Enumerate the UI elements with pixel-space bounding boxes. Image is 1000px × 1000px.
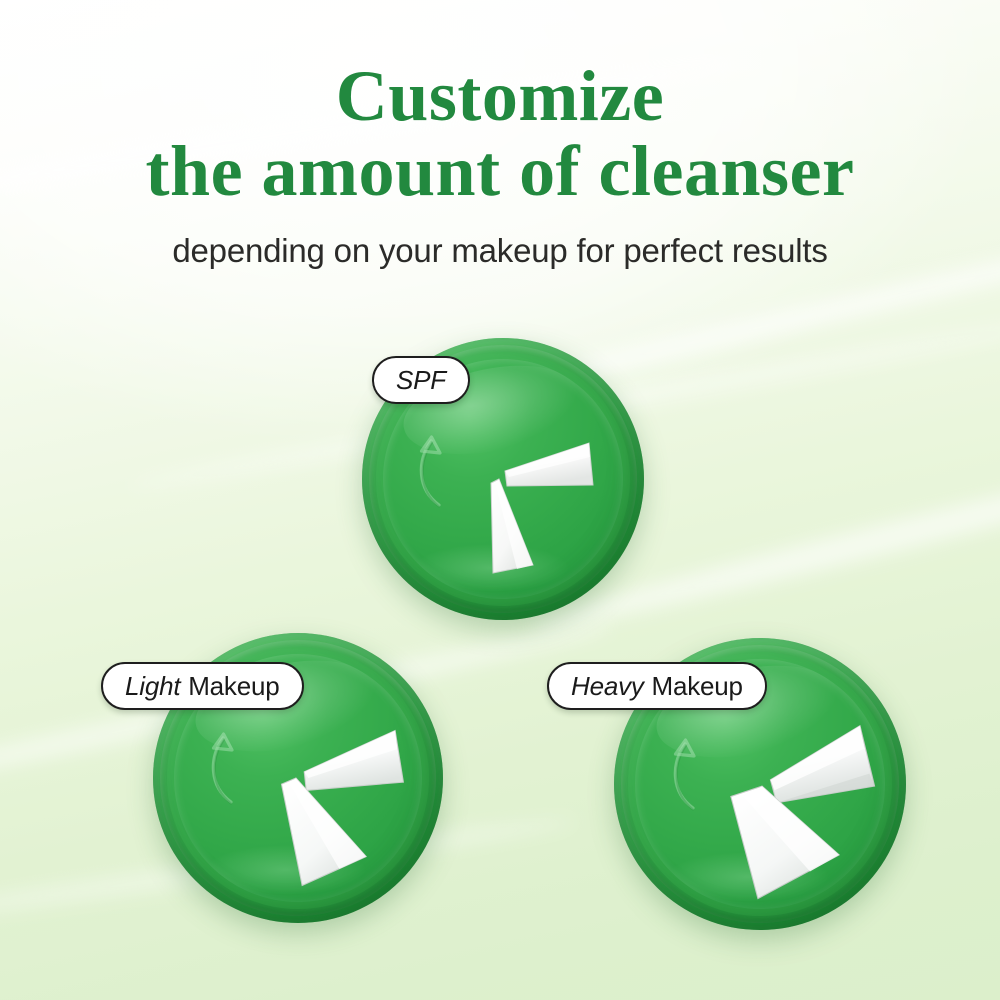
label-pill-heavy-makeup[interactable]: Heavy Makeup <box>547 662 767 710</box>
label-rest-light: Makeup <box>188 671 279 702</box>
label-emphasis-light: Light <box>125 671 180 702</box>
headline-line-1: Customize <box>0 62 1000 131</box>
product-infographic: Customize the amount of cleanser dependi… <box>0 0 1000 1000</box>
label-emphasis-spf: SPF <box>396 365 446 396</box>
label-emphasis-heavy: Heavy <box>571 671 644 702</box>
label-rest-heavy: Makeup <box>652 671 743 702</box>
heading-block: Customize the amount of cleanser dependi… <box>0 62 1000 270</box>
label-pill-spf[interactable]: SPF <box>372 356 470 404</box>
label-pill-light-makeup[interactable]: Light Makeup <box>101 662 304 710</box>
headline-line-2: the amount of cleanser <box>0 137 1000 206</box>
subheading: depending on your makeup for perfect res… <box>0 232 1000 270</box>
